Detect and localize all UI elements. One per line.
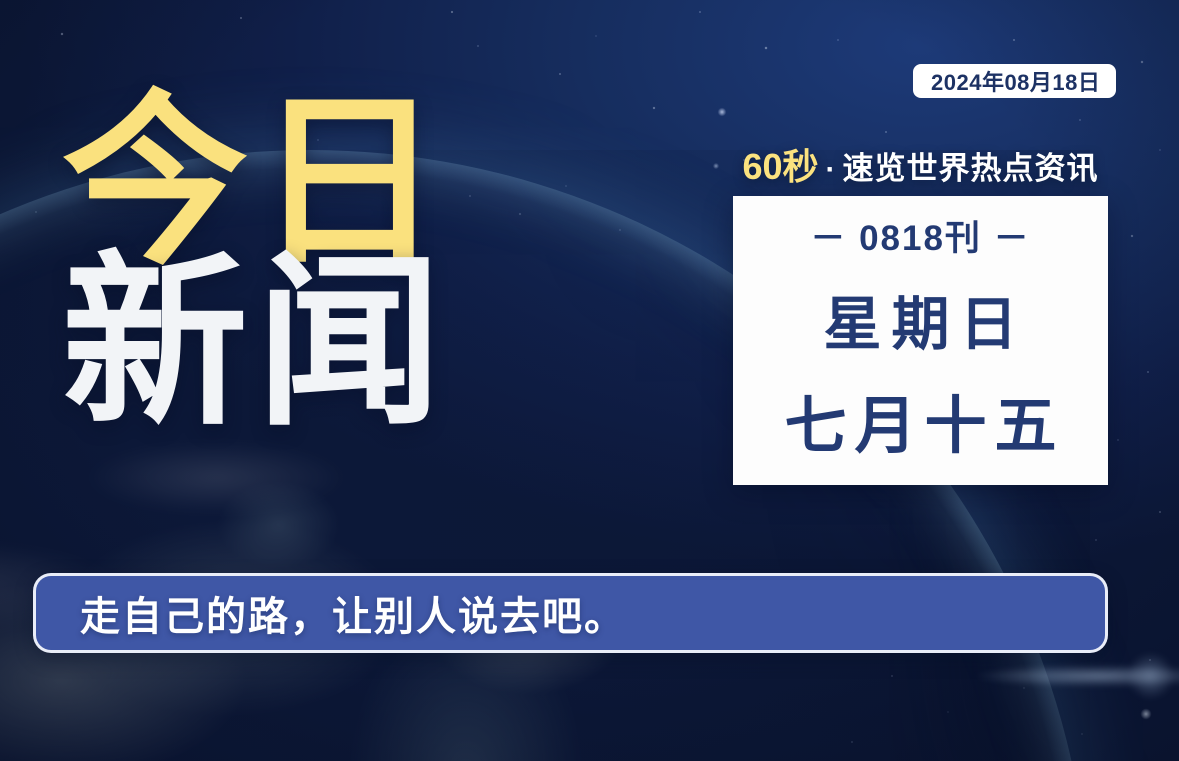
- masthead-line-news: 新闻: [62, 257, 450, 432]
- tagline-separator-dot: ·: [823, 153, 839, 187]
- poster-content: 2024年08月18日 今日 新闻 60秒 · 速览世界热点资讯 － 0818刊…: [0, 0, 1179, 761]
- lunar-date-label: 七月十五: [776, 375, 1064, 465]
- info-card: － 0818刊 － 星期日 七月十五: [733, 196, 1108, 485]
- date-badge: 2024年08月18日: [913, 64, 1116, 98]
- tagline-highlight: 60秒: [742, 138, 818, 190]
- weekday-label: 星期日: [813, 277, 1027, 361]
- news-poster: 2024年08月18日 今日 新闻 60秒 · 速览世界热点资讯 － 0818刊…: [0, 0, 1179, 761]
- masthead: 今日 新闻: [62, 96, 450, 432]
- quote-bar: 走自己的路，让别人说去吧。: [33, 573, 1108, 653]
- right-column: 60秒 · 速览世界热点资讯 － 0818刊 － 星期日 七月十五: [733, 138, 1108, 485]
- quote-text: 走自己的路，让别人说去吧。: [36, 584, 626, 642]
- tagline: 60秒 · 速览世界热点资讯: [733, 138, 1108, 184]
- tagline-text: 速览世界热点资讯: [843, 143, 1099, 188]
- issue-number: － 0818刊 －: [810, 210, 1030, 261]
